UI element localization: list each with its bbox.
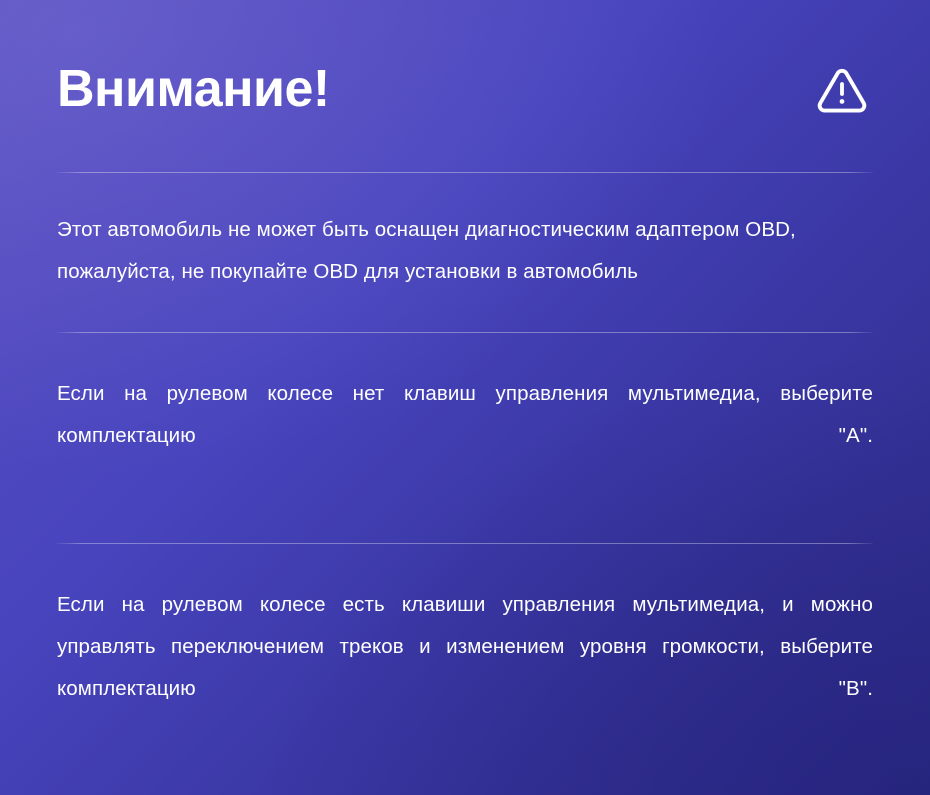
- notice-text-variant-a: Если на рулевом колесе нет клавиш управл…: [57, 373, 873, 499]
- notice-text-variant-b: Если на рулевом колесе есть клавиши упра…: [57, 584, 873, 752]
- warning-notice-card: Внимание! Этот автомобиль не может быть …: [0, 0, 930, 795]
- notice-section-obd: Этот автомобиль не может быть оснащен ди…: [57, 173, 873, 332]
- notice-text-obd: Этот автомобиль не может быть оснащен ди…: [57, 209, 873, 293]
- notice-section-variant-a: Если на рулевом колесе нет клавиш управл…: [57, 333, 873, 543]
- page-title: Внимание!: [57, 63, 330, 116]
- notice-section-variant-b: Если на рулевом колесе есть клавиши упра…: [57, 544, 873, 795]
- notice-content: Внимание! Этот автомобиль не может быть …: [0, 0, 930, 795]
- warning-triangle-icon: [812, 60, 873, 120]
- notice-header: Внимание!: [57, 0, 873, 172]
